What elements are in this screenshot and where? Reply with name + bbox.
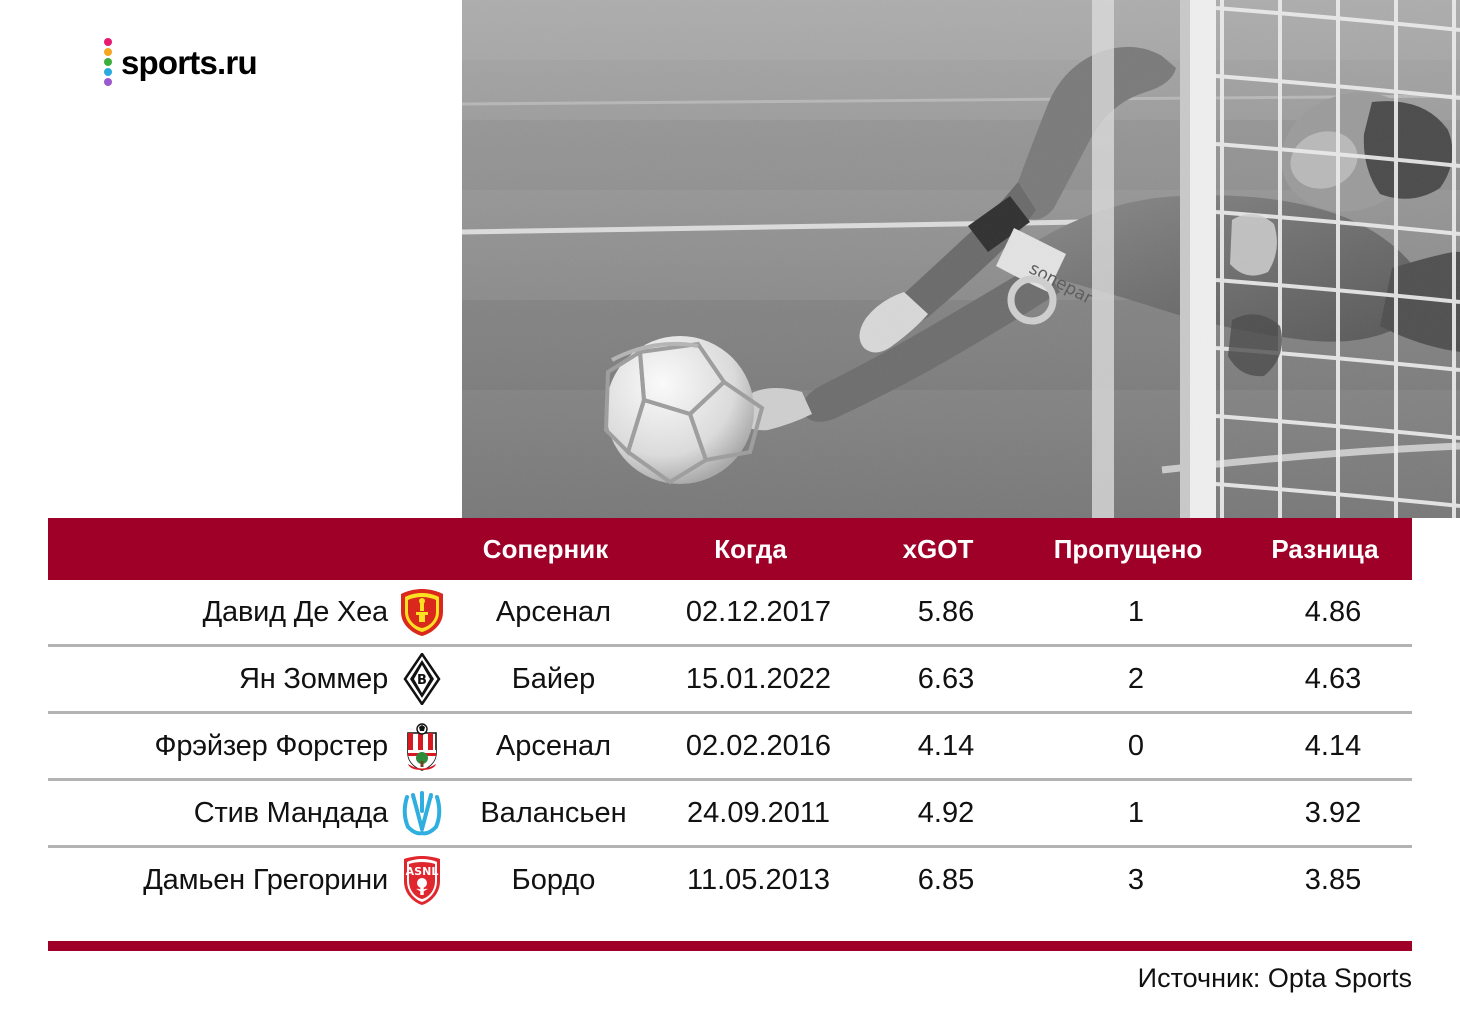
xgot-value: 4.14 [866,730,1026,763]
difference-value: 4.86 [1246,596,1420,629]
player-cell: Дамьен Грегорини ASNL [48,854,456,906]
conceded-value: 3 [1026,864,1246,897]
table-body: Давид Де Хеа Арсенал 02.12.2017 5.86 1 4… [48,580,1412,912]
column-header-date: Когда [643,534,858,565]
logo-dots-icon [104,38,112,86]
goalkeeper-photo-illustration: sonepar [462,0,1460,518]
logo-dot-4 [104,68,112,76]
logo-wordmark: sports.ru [121,46,257,79]
conceded-value: 0 [1026,730,1246,763]
table-row: Стив Мандада Валансьен 24.09.2011 [48,778,1412,845]
xgot-value: 4.92 [866,797,1026,830]
opponent-value: Байер [456,663,651,696]
hero-photo: sonepar [462,0,1460,518]
xgot-value: 6.63 [866,663,1026,696]
logo-dot-2 [104,48,112,56]
conceded-value: 1 [1026,797,1246,830]
date-value: 11.05.2013 [651,864,866,897]
player-cell: Давид Де Хеа [48,586,456,638]
column-header-difference: Разница [1238,534,1412,565]
column-header-opponent: Соперник [448,534,643,565]
player-cell: Ян Зоммер B [48,653,456,705]
table-row: Дамьен Грегорини ASNL Бордо 11.05.2013 6… [48,845,1412,912]
footer-divider [48,941,1412,951]
player-name: Давид Де Хеа [203,596,388,629]
column-header-xgot: xGOT [858,534,1018,565]
date-value: 02.12.2017 [651,596,866,629]
conceded-value: 1 [1026,596,1246,629]
conceded-value: 2 [1026,663,1246,696]
difference-value: 4.14 [1246,730,1420,763]
column-header-conceded: Пропущено [1018,534,1238,565]
table-row: Ян Зоммер B Байер 15.01.2022 6.63 2 4.63 [48,644,1412,711]
xgot-value: 5.86 [866,596,1026,629]
opponent-value: Арсенал [456,596,651,629]
opponent-value: Бордо [456,864,651,897]
player-name: Дамьен Грегорини [143,864,388,897]
xgot-value: 6.85 [866,864,1026,897]
sports-ru-logo[interactable]: sports.ru [104,38,257,86]
table-row: Давид Де Хеа Арсенал 02.12.2017 5.86 1 4… [48,580,1412,644]
opponent-value: Арсенал [456,730,651,763]
borussia-monchengladbach-crest-icon: B [396,653,448,705]
logo-dot-1 [104,38,112,46]
difference-value: 3.92 [1246,797,1420,830]
table-row: Фрэйзер Форстер [48,711,1412,778]
player-name: Ян Зоммер [239,663,388,696]
difference-value: 4.63 [1246,663,1420,696]
opponent-value: Валансьен [456,797,651,830]
olympique-marseille-crest-icon [396,787,448,839]
logo-dot-3 [104,58,112,66]
manchester-united-crest-icon [396,586,448,638]
source-credit: Источник: Opta Sports [1138,963,1412,994]
date-value: 24.09.2011 [651,797,866,830]
logo-dot-5 [104,78,112,86]
player-name: Стив Мандада [194,797,388,830]
southampton-crest-icon [396,720,448,772]
difference-value: 3.85 [1246,864,1420,897]
date-value: 02.02.2016 [651,730,866,763]
player-cell: Фрэйзер Форстер [48,720,456,772]
table-header: Соперник Когда xGOT Пропущено Разница [48,518,1412,580]
date-value: 15.01.2022 [651,663,866,696]
player-cell: Стив Мандада [48,787,456,839]
player-name: Фрэйзер Форстер [155,730,388,763]
svg-text:B: B [417,673,427,688]
svg-text:ASNL: ASNL [406,865,439,878]
as-nancy-lorraine-crest-icon: ASNL [396,854,448,906]
